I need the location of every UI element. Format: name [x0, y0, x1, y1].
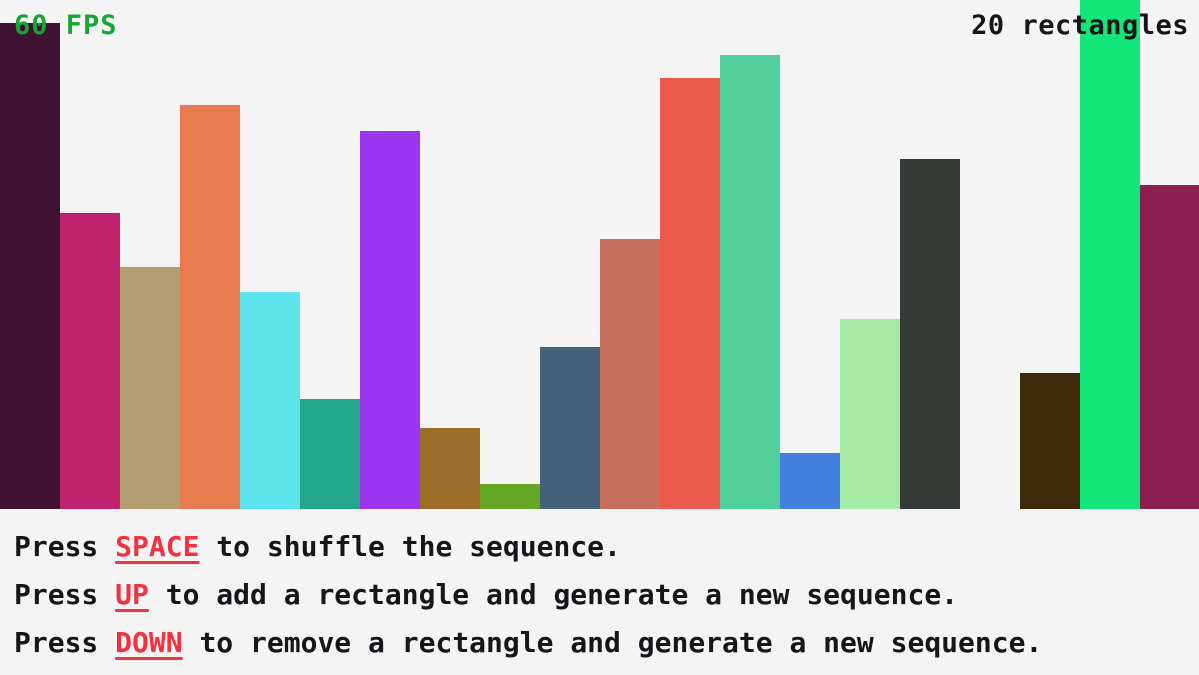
key-hint-space[interactable]: SPACE [115, 530, 199, 563]
chart-bar [300, 399, 360, 509]
chart-bar [1140, 185, 1199, 509]
chart-bar [240, 292, 300, 509]
chart-bar [660, 78, 720, 509]
key-hint-up[interactable]: UP [115, 578, 149, 611]
chart-bar [720, 55, 780, 509]
chart-bar [840, 319, 900, 509]
instruction-prefix: Press [14, 626, 115, 659]
instruction-line: Press UP to add a rectangle and generate… [14, 571, 1199, 619]
app-canvas: 60 FPS 20 rectangles Press SPACE to shuf… [0, 0, 1199, 675]
chart-bar [420, 428, 480, 509]
instruction-prefix: Press [14, 530, 115, 563]
instructions-panel: Press SPACE to shuffle the sequence.Pres… [0, 509, 1199, 675]
chart-bar [120, 267, 180, 509]
instruction-suffix: to remove a rectangle and generate a new… [183, 626, 1043, 659]
chart-bar [360, 131, 420, 509]
chart-bar [900, 159, 960, 509]
chart-bar [780, 453, 840, 509]
instruction-prefix: Press [14, 578, 115, 611]
instruction-line: Press DOWN to remove a rectangle and gen… [14, 619, 1199, 667]
rectangle-count-label: 20 rectangles [971, 10, 1189, 41]
chart-bar [1020, 373, 1080, 509]
instruction-line: Press SPACE to shuffle the sequence. [14, 523, 1199, 571]
chart-bar [600, 239, 660, 509]
bar-chart [0, 0, 1199, 509]
chart-bar [1080, 0, 1140, 509]
chart-bar [0, 23, 60, 509]
chart-bar [540, 347, 600, 509]
fps-counter: 60 FPS [14, 10, 118, 41]
key-hint-down[interactable]: DOWN [115, 626, 182, 659]
chart-bar [480, 484, 540, 509]
instruction-suffix: to add a rectangle and generate a new se… [149, 578, 958, 611]
chart-bar [60, 213, 120, 509]
instruction-suffix: to shuffle the sequence. [199, 530, 620, 563]
chart-bar [180, 105, 240, 509]
